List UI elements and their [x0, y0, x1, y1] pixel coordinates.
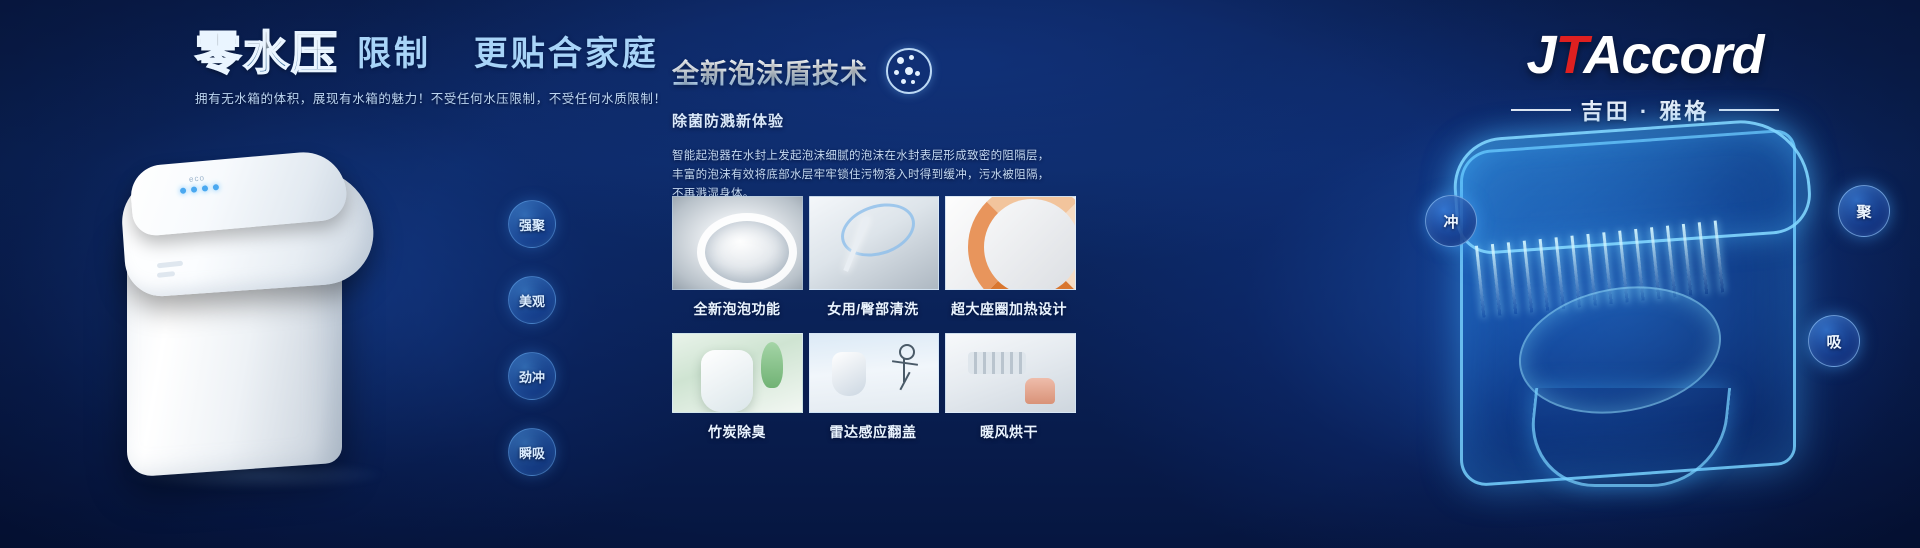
brand-logo-letter-t: T [1556, 25, 1584, 85]
left-subtitle: 拥有无水箱的体积，展现有水箱的魅力！不受任何水压限制，不受任何水质限制！ [195, 88, 715, 107]
middle-paragraph-line-2: 丰富的泡沫有效将底部水层牢牢锁住污物落入时得到缓冲，污水被阻隔， [672, 166, 1092, 185]
headline-rest-part-2: 更贴合家庭 [474, 35, 659, 73]
logo-rule-left [1511, 109, 1571, 111]
brand-logo-wordmark: JTAccord [1480, 28, 1810, 82]
left-feature-pill-1[interactable]: 强聚 [508, 200, 556, 248]
feature-tile-grid: 全新泡泡功能 女用/臀部清洗 超大座圈加热设计 竹炭除臭 雷达感应翻盖 暖风烘干 [672, 196, 1076, 456]
middle-paragraph-line-1: 智能起泡器在水封上发起泡沫细腻的泡沫在水封表层形成致密的阻隔层， [672, 147, 1092, 166]
brand-logo: JTAccord 吉田 · 雅格 [1480, 28, 1810, 126]
feature-tile-6[interactable] [945, 333, 1076, 413]
xray-pill-3[interactable]: 吸 [1808, 315, 1860, 367]
feature-tile-caption-3: 超大座圈加热设计 [944, 299, 1074, 319]
product-photo-toilet: eco [85, 130, 475, 480]
left-feature-pill-2[interactable]: 美观 [508, 276, 556, 324]
xray-pill-2[interactable]: 聚 [1838, 185, 1890, 237]
feature-tile-1[interactable] [672, 196, 803, 290]
feature-tile-caption-6: 暖风烘干 [944, 422, 1074, 442]
feature-tile-caption-2: 女用/臀部清洗 [808, 299, 938, 319]
product-badge-label: eco [189, 173, 206, 184]
left-headline-block: 零水压 限制 更贴合家庭 拥有无水箱的体积，展现有水箱的魅力！不受任何水压限制，… [195, 30, 715, 107]
person-sensor-icon [890, 344, 920, 402]
tile-row-top [672, 196, 1076, 290]
left-feature-pill-list: 强聚 美观 劲冲 瞬吸 [508, 200, 556, 476]
headline: 零水压 限制 更贴合家庭 [195, 30, 715, 76]
left-feature-pill-4[interactable]: 瞬吸 [508, 428, 556, 476]
middle-title-row: 全新泡沫盾技术 [672, 48, 1092, 94]
middle-title: 全新泡沫盾技术 [672, 52, 868, 91]
feature-tile-caption-1: 全新泡泡功能 [672, 299, 802, 319]
xray-siphon-trap [1525, 388, 1731, 487]
middle-subtitle: 除菌防溅新体验 [672, 110, 1092, 131]
feature-tile-5[interactable] [809, 333, 940, 413]
headline-rest: 限制 更贴合家庭 [357, 37, 659, 71]
left-feature-pill-3[interactable]: 劲冲 [508, 352, 556, 400]
foam-bubble-icon [886, 48, 932, 94]
tile-caption-row-bottom: 竹炭除臭 雷达感应翻盖 暖风烘干 [672, 422, 1076, 442]
brand-logo-letter-j: J [1526, 25, 1555, 85]
feature-tile-caption-4: 竹炭除臭 [672, 422, 802, 442]
logo-rule-right [1719, 109, 1779, 111]
promo-banner: 零水压 限制 更贴合家庭 拥有无水箱的体积，展现有水箱的魅力！不受任何水压限制，… [0, 0, 1920, 548]
tile-row-bottom [672, 333, 1076, 413]
feature-tile-2[interactable] [809, 196, 940, 290]
feature-tile-3[interactable] [945, 196, 1076, 290]
headline-rest-part-1: 限制 [357, 35, 431, 73]
headline-keyword: 零水压 [195, 30, 343, 76]
brand-logo-accord: Accord [1583, 25, 1763, 85]
feature-tile-4[interactable] [672, 333, 803, 413]
tile-caption-row-top: 全新泡泡功能 女用/臀部清洗 超大座圈加热设计 [672, 299, 1076, 319]
xray-pill-1[interactable]: 冲 [1425, 195, 1477, 247]
middle-text-block: 全新泡沫盾技术 除菌防溅新体验 智能起泡器在水封上发起泡沫细腻的泡沫在水封表层形… [672, 48, 1092, 204]
feature-tile-caption-5: 雷达感应翻盖 [808, 422, 938, 442]
